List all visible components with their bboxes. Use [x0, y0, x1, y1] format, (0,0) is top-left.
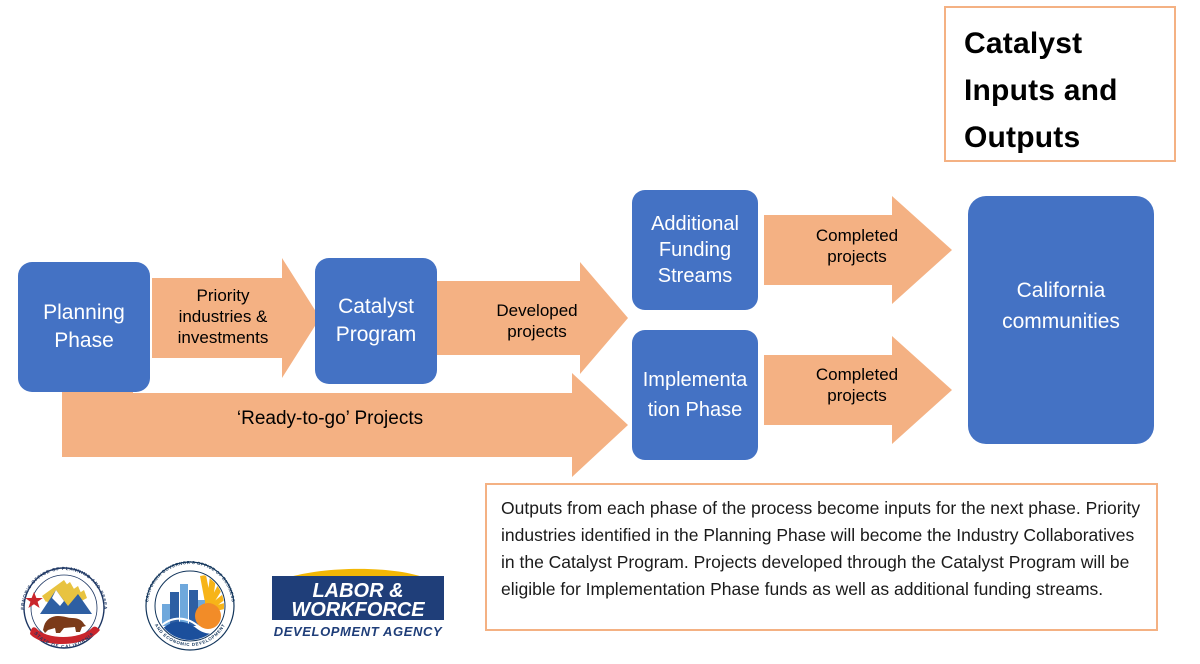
lwda-line-3: DEVELOPMENT AGENCY [274, 624, 443, 639]
title-box: Catalyst Inputs and Outputs [944, 6, 1176, 162]
node-planning-phase-label: Planning Phase [18, 299, 150, 355]
arrow-label-completed-projects-bottom: Completed projects [790, 364, 924, 406]
node-california-communities-label: California communities [968, 275, 1154, 337]
lwda-line-2: WORKFORCE [291, 599, 425, 621]
node-implementation-phase[interactable]: Implementa tion Phase [632, 330, 758, 460]
node-california-communities[interactable]: California communities [968, 196, 1154, 444]
diagram-canvas: Catalyst Inputs and Outputs Planning Pha… [0, 0, 1200, 664]
node-planning-phase[interactable]: Planning Phase [18, 262, 150, 392]
arrow-label-completed-projects-top: Completed projects [790, 225, 924, 267]
title-line-2: Inputs and [964, 67, 1174, 114]
governors-office-of-planning-and-research-seal: GOVERNOR'S OFFICE OF PLANNING AND RESEAR… [8, 556, 120, 656]
node-implementation-phase-label: Implementa tion Phase [632, 365, 758, 425]
arrow-label-ready-to-go-projects: ‘Ready-to-go’ Projects [170, 408, 490, 429]
california-governors-office-of-business-and-economic-development-seal: CALIFORNIA GOVERNOR'S OFFICE OF BUSINESS… [140, 556, 240, 656]
title-line-1: Catalyst [964, 20, 1174, 67]
node-catalyst-program[interactable]: Catalyst Program [315, 258, 437, 384]
node-catalyst-program-label: Catalyst Program [315, 293, 437, 349]
note-text: Outputs from each phase of the process b… [501, 495, 1142, 603]
node-additional-funding-streams[interactable]: Additional Funding Streams [632, 190, 758, 310]
title-line-3: Outputs [964, 114, 1174, 161]
arrow-label-developed-projects: Developed projects [470, 300, 604, 342]
note-box: Outputs from each phase of the process b… [485, 483, 1158, 631]
arrow-label-priority-industries: Priority industries & investments [160, 285, 286, 348]
node-additional-funding-streams-label: Additional Funding Streams [632, 211, 758, 289]
labor-and-workforce-development-agency-logo: LABOR & WORKFORCE DEVELOPMENT AGENCY [262, 566, 452, 644]
